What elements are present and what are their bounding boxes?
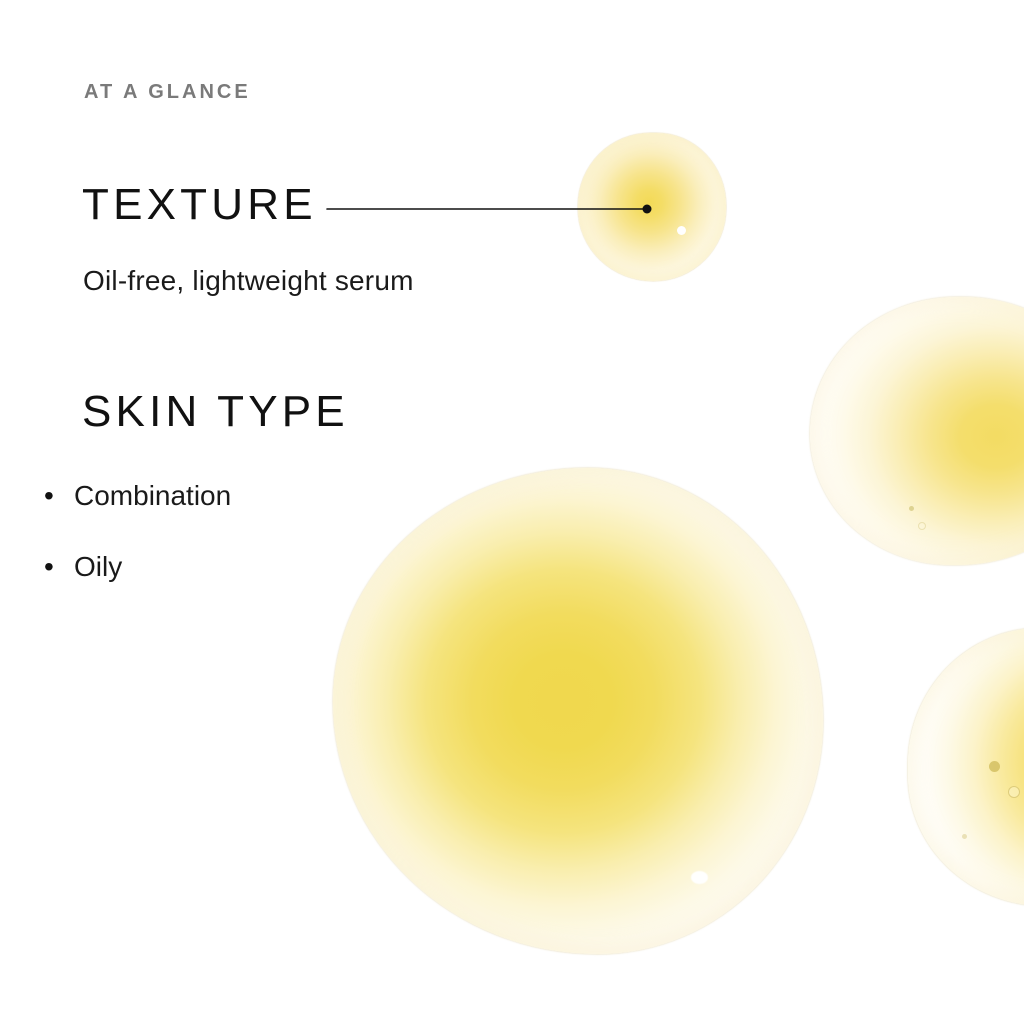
at-a-glance-panel: AT A GLANCE TEXTURE Oil-free, lightweigh… <box>0 0 1024 1024</box>
skin-type-list: • Combination • Oily <box>44 478 231 620</box>
bullet-point-icon: • <box>44 478 74 513</box>
eyebrow-heading: AT A GLANCE <box>84 82 251 102</box>
skin-type-heading: SKIN TYPE <box>82 390 349 434</box>
bullet-point-icon: • <box>44 549 74 584</box>
content-column: AT A GLANCE TEXTURE Oil-free, lightweigh… <box>0 0 1024 1024</box>
skin-type-item-label: Combination <box>74 478 231 513</box>
texture-description: Oil-free, lightweight serum <box>83 264 414 298</box>
skin-type-item-label: Oily <box>74 549 122 584</box>
texture-heading: TEXTURE <box>82 183 317 227</box>
list-item: • Oily <box>44 549 231 584</box>
list-item: • Combination <box>44 478 231 513</box>
